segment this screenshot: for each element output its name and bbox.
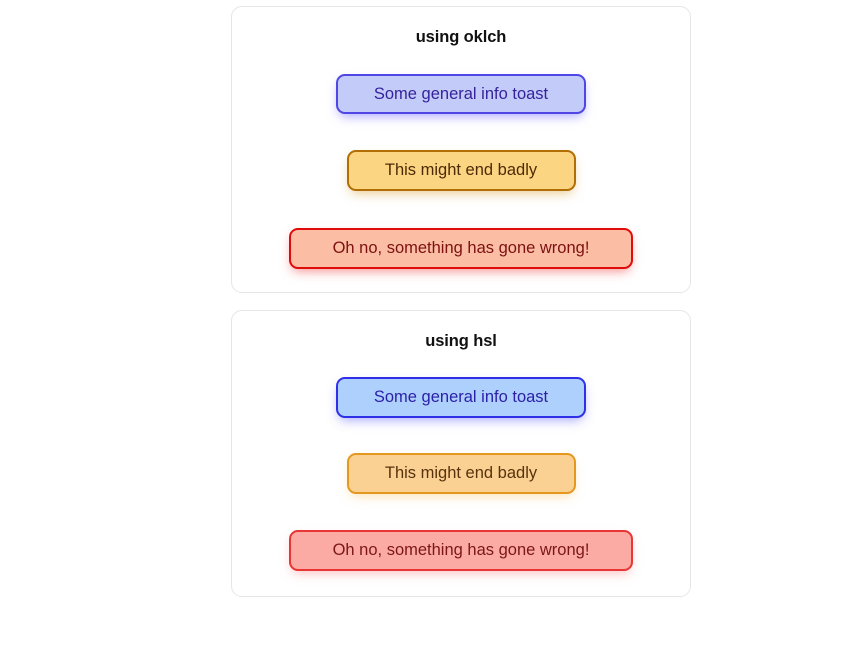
toast-stack-oklch: Some general info toast This might end b… xyxy=(232,47,690,269)
toast-info-hsl[interactable]: Some general info toast xyxy=(336,377,586,418)
card-hsl: using hsl Some general info toast This m… xyxy=(231,310,691,597)
toast-warning-hsl[interactable]: This might end badly xyxy=(347,453,576,494)
card-title-oklch: using oklch xyxy=(232,7,690,47)
page-root: using oklch Some general info toast This… xyxy=(0,0,868,655)
card-title-hsl: using hsl xyxy=(232,311,690,351)
card-oklch: using oklch Some general info toast This… xyxy=(231,6,691,293)
toast-error-oklch[interactable]: Oh no, something has gone wrong! xyxy=(289,228,633,269)
toast-info-oklch[interactable]: Some general info toast xyxy=(336,74,586,114)
toast-error-hsl[interactable]: Oh no, something has gone wrong! xyxy=(289,530,633,571)
toast-warning-oklch[interactable]: This might end badly xyxy=(347,150,576,191)
toast-stack-hsl: Some general info toast This might end b… xyxy=(232,351,690,571)
